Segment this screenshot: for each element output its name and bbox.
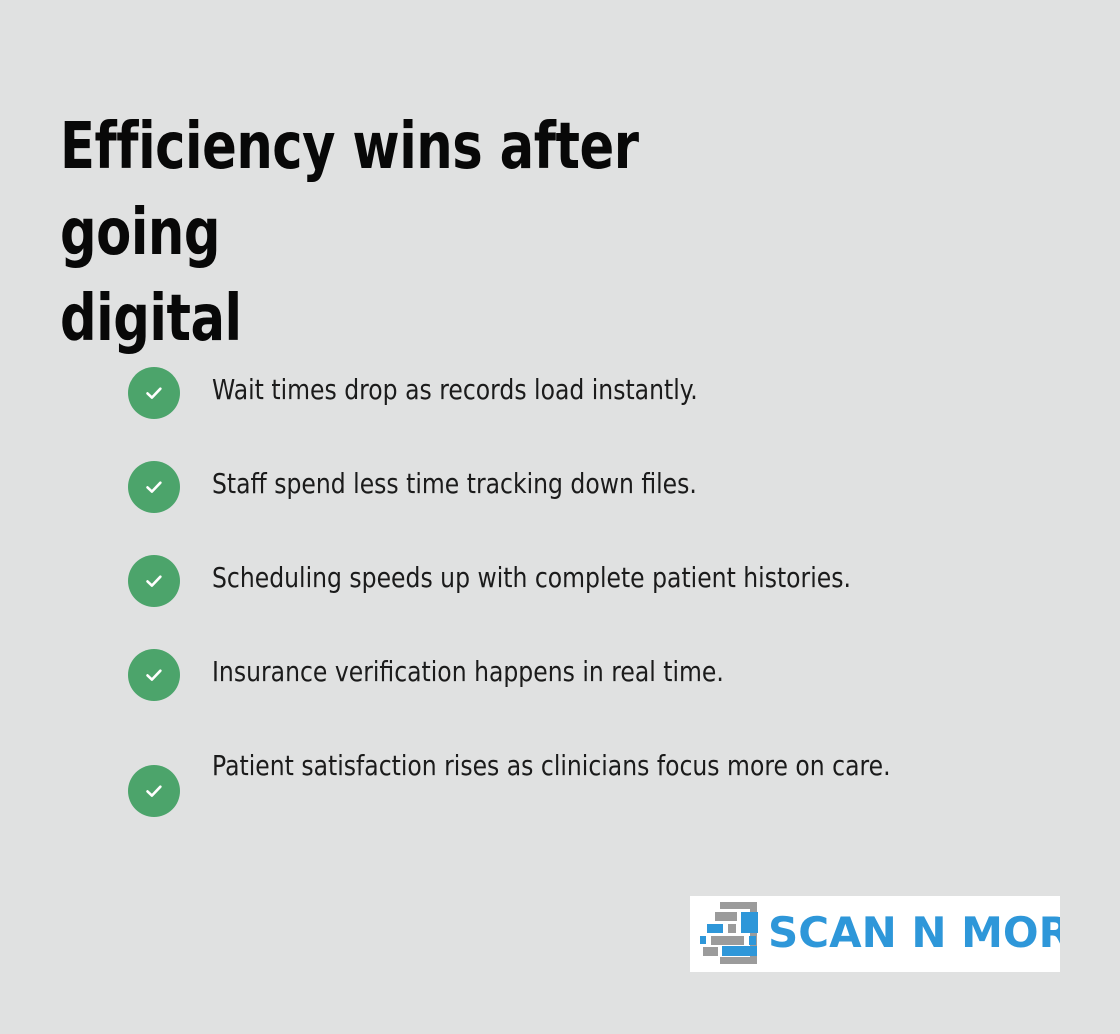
brand-logo: SCAN N MORE DOCUMENT SCANNING & IMAGING …	[690, 896, 1060, 972]
scanned-document-icon	[700, 900, 762, 966]
list-item-label: Wait times drop as records load instantl…	[212, 365, 935, 412]
list-item-label: Patient satisfaction rises as clinicians…	[212, 741, 935, 788]
logo-inner: SCAN N MORE DOCUMENT SCANNING & IMAGING …	[700, 900, 1060, 966]
page-title: Efficiency wins after going digital	[60, 104, 796, 362]
check-circle-icon	[128, 461, 180, 513]
check-circle-icon	[128, 555, 180, 607]
list-item: Patient satisfaction rises as clinicians…	[128, 741, 1058, 817]
logo-type-block: SCAN N MORE DOCUMENT SCANNING & IMAGING …	[768, 912, 1060, 954]
logo-wordmark: SCAN N MORE	[768, 908, 1060, 957]
check-circle-icon	[128, 649, 180, 701]
list-item: Insurance verification happens in real t…	[128, 647, 1058, 701]
benefits-list: Wait times drop as records load instantl…	[128, 365, 1058, 817]
list-item: Scheduling speeds up with complete patie…	[128, 553, 1058, 607]
slide-canvas: Efficiency wins after going digital Wait…	[0, 0, 1120, 1034]
list-item: Wait times drop as records load instantl…	[128, 365, 1058, 419]
list-item-label: Insurance verification happens in real t…	[212, 647, 935, 694]
list-item: Staff spend less time tracking down file…	[128, 459, 1058, 513]
check-circle-icon	[128, 367, 180, 419]
list-item-label: Staff spend less time tracking down file…	[212, 459, 935, 506]
list-item-label: Scheduling speeds up with complete patie…	[212, 553, 935, 600]
check-circle-icon	[128, 765, 180, 817]
